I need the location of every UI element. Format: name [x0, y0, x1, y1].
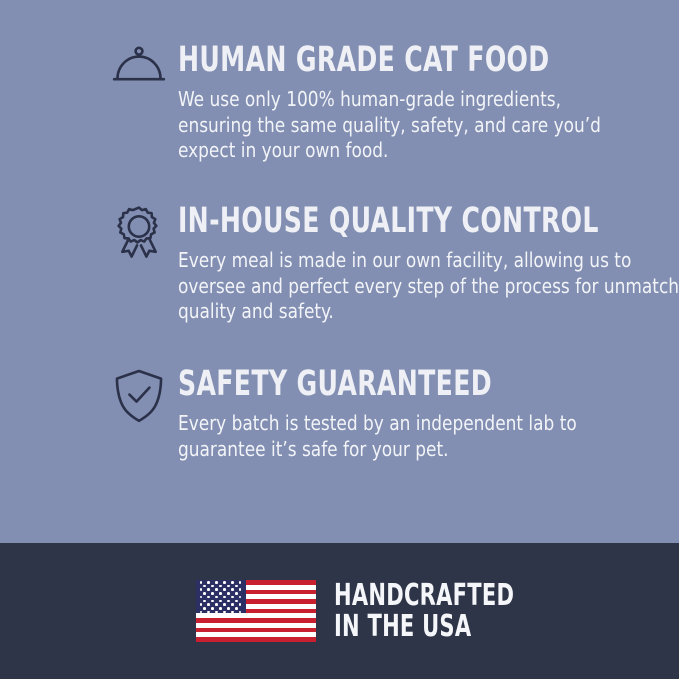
product-benefits-infographic: HUMAN GRADE CAT FOOD We use only 100% hu…: [0, 0, 679, 679]
flag-star: [239, 588, 242, 591]
flag-star: [203, 585, 206, 588]
flag-star: [207, 596, 210, 599]
flag-star: [215, 611, 218, 614]
banner-line-2: IN THE USA: [334, 611, 451, 642]
flag-star: [219, 592, 222, 595]
flag-star-row: [196, 581, 246, 584]
flag-star: [239, 596, 242, 599]
flag-star-row: [196, 611, 246, 614]
award-ribbon-icon: [100, 203, 178, 265]
flag-star: [207, 611, 210, 614]
flag-star: [235, 607, 238, 610]
flag-star: [203, 600, 206, 603]
flag-star: [211, 600, 214, 603]
flag-star-row: [196, 585, 246, 588]
feature-title: HUMAN GRADE CAT FOOD: [178, 42, 550, 78]
flag-star: [215, 581, 218, 584]
flag-star: [235, 592, 238, 595]
banner-line-1: HANDCRAFTED: [334, 580, 451, 611]
flag-star: [227, 600, 230, 603]
flag-star-row: [196, 592, 246, 595]
feature-body: SAFETY GUARANTEED Every batch is tested …: [178, 366, 580, 462]
flag-star: [211, 585, 214, 588]
flag-star: [215, 596, 218, 599]
flag-star: [231, 588, 234, 591]
feature-item: HUMAN GRADE CAT FOOD We use only 100% hu…: [100, 42, 580, 164]
handcrafted-usa-banner: HANDCRAFTED IN THE USA: [0, 543, 679, 679]
flag-star: [219, 607, 222, 610]
cloche-icon: [100, 42, 178, 104]
flag-star: [223, 581, 226, 584]
banner-text: HANDCRAFTED IN THE USA: [334, 580, 484, 642]
banner-content: HANDCRAFTED IN THE USA: [196, 580, 484, 642]
usa-flag-icon: [196, 580, 316, 642]
flag-star: [219, 600, 222, 603]
flag-star: [207, 603, 210, 606]
flag-star: [235, 585, 238, 588]
flag-star: [215, 603, 218, 606]
flag-star: [211, 607, 214, 610]
flag-star-row: [196, 607, 246, 610]
flag-stripe: [196, 628, 316, 633]
flag-star: [223, 603, 226, 606]
feature-item: IN-HOUSE QUALITY CONTROL Every meal is m…: [100, 203, 580, 325]
flag-star: [203, 592, 206, 595]
flag-star: [223, 596, 226, 599]
feature-body: HUMAN GRADE CAT FOOD We use only 100% hu…: [178, 42, 642, 164]
flag-star: [200, 588, 203, 591]
flag-star: [227, 585, 230, 588]
features-section: HUMAN GRADE CAT FOOD We use only 100% hu…: [0, 0, 679, 543]
flag-star: [211, 592, 214, 595]
flag-star: [223, 611, 226, 614]
flag-stripe: [196, 637, 316, 642]
shield-check-icon: [100, 366, 178, 428]
flag-star: [239, 581, 242, 584]
flag-star: [227, 607, 230, 610]
flag-star: [219, 585, 222, 588]
flag-star: [200, 596, 203, 599]
flag-star-row: [196, 596, 246, 599]
flag-star: [239, 611, 242, 614]
flag-star: [200, 603, 203, 606]
flag-star: [207, 588, 210, 591]
feature-title: IN-HOUSE QUALITY CONTROL: [178, 203, 599, 239]
feature-body: IN-HOUSE QUALITY CONTROL Every meal is m…: [178, 203, 679, 325]
feature-description: We use only 100% human-grade ingredients…: [178, 87, 639, 164]
flag-star-row: [196, 600, 246, 603]
flag-star: [215, 588, 218, 591]
feature-description: Every meal is made in our own facility, …: [178, 248, 679, 325]
flag-star-row: [196, 588, 246, 591]
flag-star: [207, 581, 210, 584]
flag-star: [231, 603, 234, 606]
flag-star: [231, 581, 234, 584]
flag-canton: [196, 580, 246, 613]
feature-item: SAFETY GUARANTEED Every batch is tested …: [100, 366, 580, 462]
flag-star: [239, 603, 242, 606]
flag-star-row: [196, 603, 246, 606]
flag-star: [200, 581, 203, 584]
flag-stripe: [196, 618, 316, 623]
flag-star: [227, 592, 230, 595]
flag-star: [223, 588, 226, 591]
feature-description: Every batch is tested by an independent …: [178, 411, 577, 462]
flag-star: [231, 596, 234, 599]
flag-star: [231, 611, 234, 614]
flag-star: [235, 600, 238, 603]
flag-star: [200, 611, 203, 614]
feature-title: SAFETY GUARANTEED: [178, 366, 500, 402]
flag-star: [203, 607, 206, 610]
